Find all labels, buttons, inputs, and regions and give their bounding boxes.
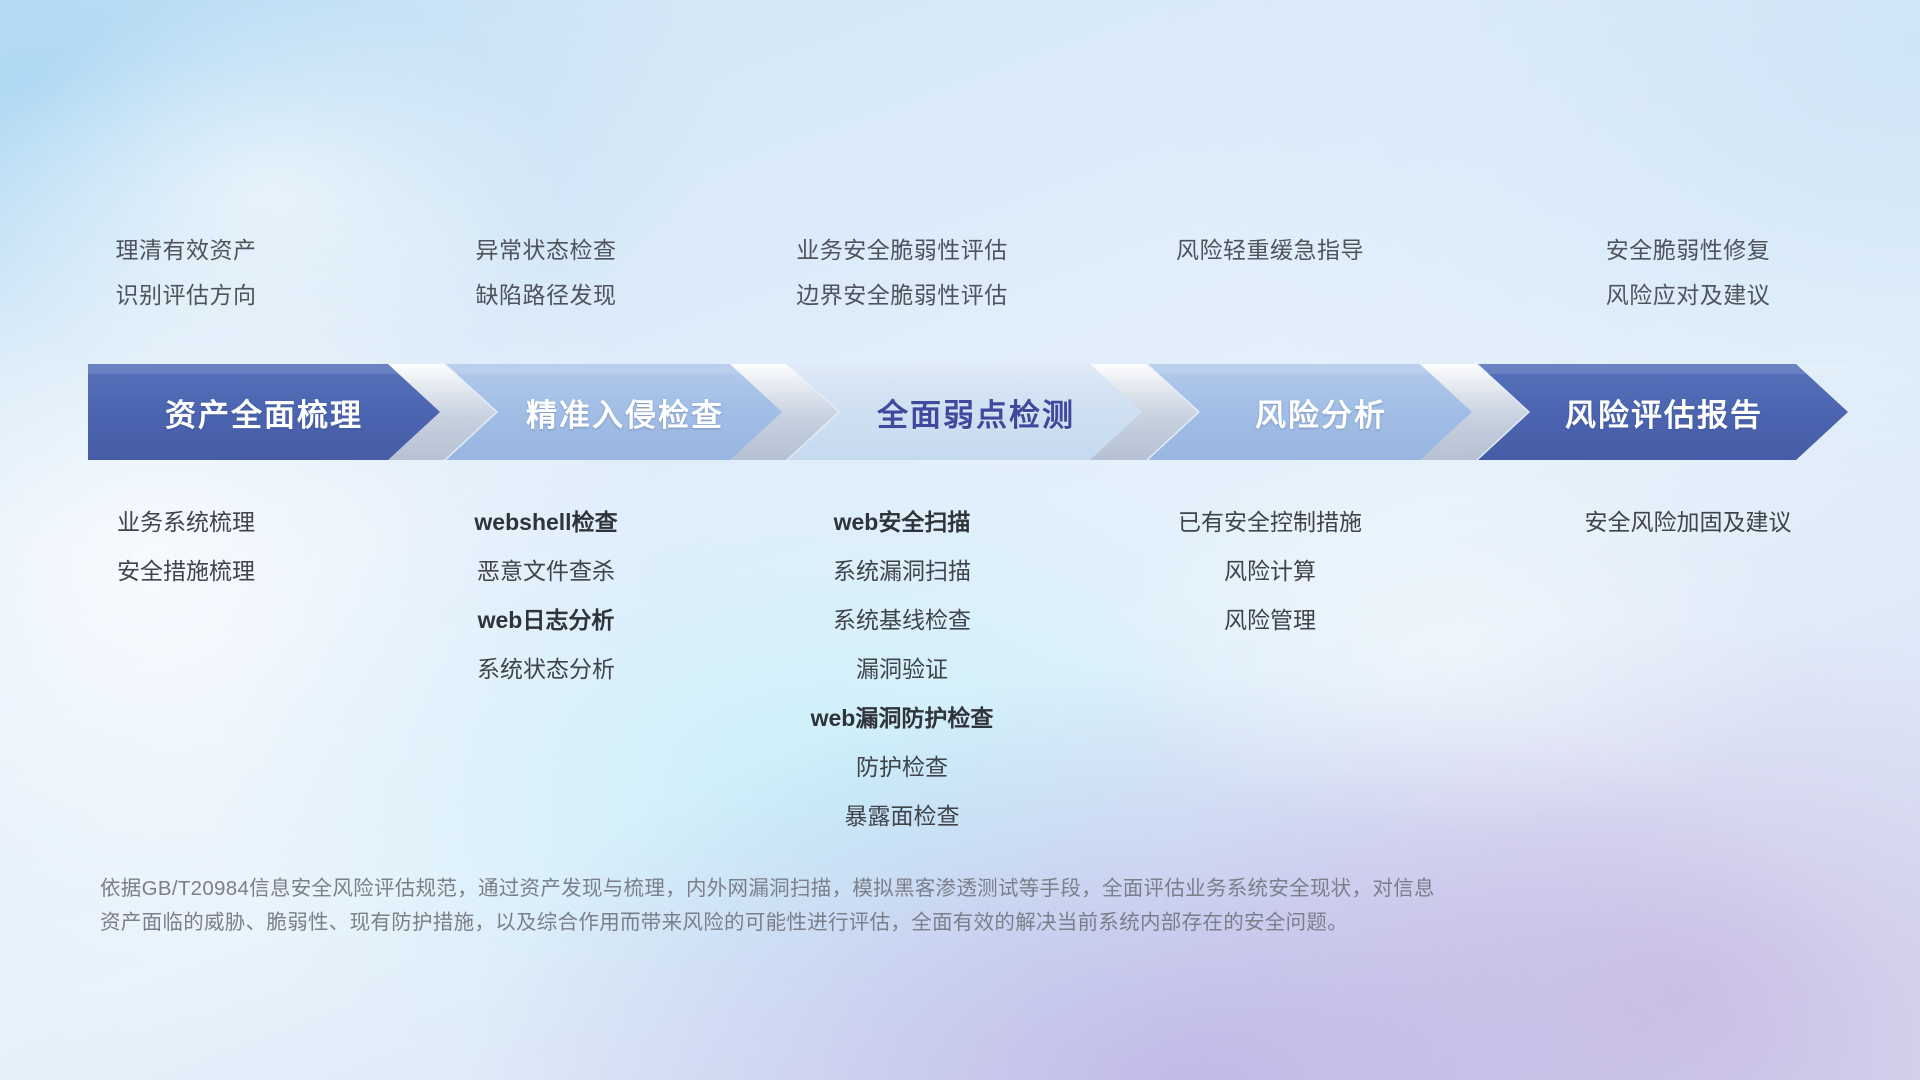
chevron-shape-2 — [446, 364, 782, 460]
stage-items-4: 已有安全控制措施 风险计算 风险管理 — [1084, 498, 1456, 841]
list-item: 已有安全控制措施 — [1084, 498, 1456, 547]
stage-items-3: web安全扫描 系统漏洞扫描 系统基线检查 漏洞验证 web漏洞防护检查 防护检… — [720, 498, 1084, 841]
list-item: web安全扫描 — [720, 498, 1084, 547]
chevron-shape-3 — [788, 364, 1142, 460]
caption-line: 异常状态检查 — [372, 228, 720, 273]
footer-line: 资产面临的威胁、脆弱性、现有防护措施，以及综合作用而带来风险的可能性进行评估，全… — [100, 906, 1760, 940]
list-item: 漏洞验证 — [720, 645, 1084, 694]
process-diagram: 理清有效资产 识别评估方向 异常状态检查 缺陷路径发现 业务安全脆弱性评估 边界… — [0, 0, 1920, 1080]
list-item: 暴露面检查 — [720, 792, 1084, 841]
list-item: 安全措施梳理 — [0, 547, 372, 596]
list-item: 系统基线检查 — [720, 596, 1084, 645]
stage-caption-2: 异常状态检查 缺陷路径发现 — [372, 228, 720, 348]
list-item: webshell检查 — [372, 498, 720, 547]
stage-items-row: 业务系统梳理 安全措施梳理 webshell检查 恶意文件查杀 web日志分析 … — [0, 498, 1920, 841]
caption-line: 边界安全脆弱性评估 — [720, 273, 1084, 318]
stage-captions-row: 理清有效资产 识别评估方向 异常状态检查 缺陷路径发现 业务安全脆弱性评估 边界… — [0, 228, 1920, 348]
list-item: 恶意文件查杀 — [372, 547, 720, 596]
chevron-shape-5 — [1478, 364, 1848, 460]
stage-items-1: 业务系统梳理 安全措施梳理 — [0, 498, 372, 841]
caption-line: 识别评估方向 — [0, 273, 372, 318]
caption-line: 风险轻重缓急指导 — [1084, 228, 1456, 273]
list-item: 系统状态分析 — [372, 645, 720, 694]
list-item: 风险管理 — [1084, 596, 1456, 645]
list-item: web日志分析 — [372, 596, 720, 645]
caption-line: 风险应对及建议 — [1456, 273, 1920, 318]
footer-description: 依据GB/T20984信息安全风险评估规范，通过资产发现与梳理，内外网漏洞扫描，… — [100, 872, 1760, 940]
caption-line: 安全脆弱性修复 — [1456, 228, 1920, 273]
footer-line: 依据GB/T20984信息安全风险评估规范，通过资产发现与梳理，内外网漏洞扫描，… — [100, 872, 1760, 906]
stage-caption-5: 安全脆弱性修复 风险应对及建议 — [1456, 228, 1920, 348]
list-item: 安全风险加固及建议 — [1456, 498, 1920, 547]
stage-caption-4: 风险轻重缓急指导 — [1084, 228, 1456, 348]
stage-chevron-band: 资产全面梳理 精准入侵检查 全面弱点检测 风险分析 风险评估报告 — [88, 364, 1848, 460]
stage-caption-3: 业务安全脆弱性评估 边界安全脆弱性评估 — [720, 228, 1084, 348]
stage-items-2: webshell检查 恶意文件查杀 web日志分析 系统状态分析 — [372, 498, 720, 841]
list-item: 防护检查 — [720, 743, 1084, 792]
caption-line: 业务安全脆弱性评估 — [720, 228, 1084, 273]
list-item: 系统漏洞扫描 — [720, 547, 1084, 596]
stage-caption-1: 理清有效资产 识别评估方向 — [0, 228, 372, 348]
list-item: 业务系统梳理 — [0, 498, 372, 547]
caption-line: 缺陷路径发现 — [372, 273, 720, 318]
caption-line: 理清有效资产 — [0, 228, 372, 273]
list-item: 风险计算 — [1084, 547, 1456, 596]
chevron-shape-1 — [88, 364, 440, 460]
stage-items-5: 安全风险加固及建议 — [1456, 498, 1920, 841]
list-item: web漏洞防护检查 — [720, 694, 1084, 743]
